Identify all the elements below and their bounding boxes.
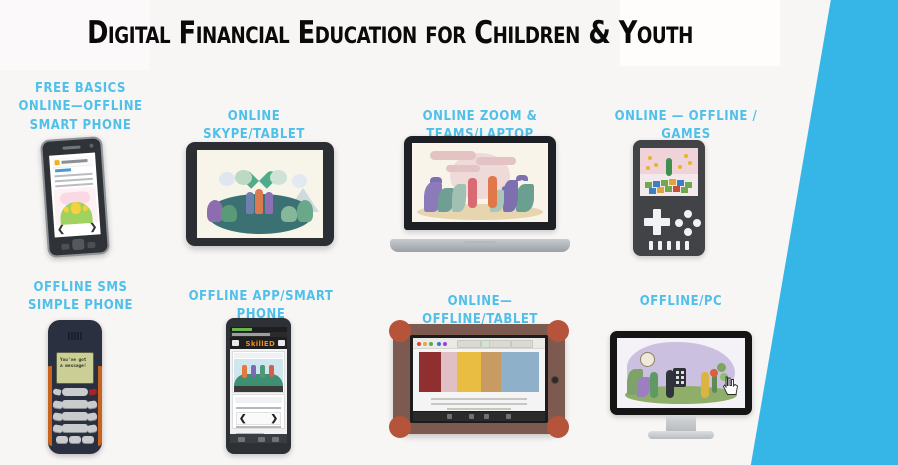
bush-shape [297,200,313,222]
keypad-key[interactable] [62,412,88,420]
lesson-text-card: ❮ ❯ [232,394,285,429]
video-card[interactable] [232,351,285,393]
tablet-body [186,142,334,246]
phone-body: SkillED [226,318,291,454]
call-key[interactable] [52,388,61,396]
card-header [235,397,282,403]
navigation-key[interactable] [62,388,88,396]
device-handheld-game-console [633,140,705,256]
home-key-icon [258,437,265,442]
cloud-shape [476,157,516,165]
action-button-right[interactable] [693,219,701,227]
label-online-skype-tablet: ONLINE SKYPE/TABLET [175,108,333,145]
keypad-key[interactable] [86,424,97,433]
coin-icon [688,161,692,165]
options-menu-icon[interactable] [278,340,285,346]
sms-message-text: You've got a message! [60,358,91,370]
menu-key-icon [506,414,511,419]
coin-icon [678,165,682,169]
hero-block [441,352,458,392]
board-tile [669,179,676,185]
board-tile [681,187,688,193]
android-soft-keys[interactable] [230,434,287,443]
laptop-notch [464,241,496,245]
device-smartphone-free-basics: ❮ ❯ [40,136,110,258]
action-button-up[interactable] [684,210,692,218]
console-screen [640,148,698,196]
keypad-key[interactable] [86,412,97,421]
lesson-nav[interactable]: ❮ ❯ [236,412,281,425]
article-illustration [53,187,97,226]
video-title [234,353,283,358]
corner-bumper [547,416,569,438]
recents-key-icon [484,414,489,419]
corner-bumper [389,320,411,342]
text-line [54,173,92,178]
phone-screen: SkillED [230,327,287,443]
browser-tab[interactable] [511,340,533,348]
feature-phone-body: You've got a message! [48,320,102,454]
hamburger-menu-icon[interactable] [232,340,239,346]
side-trim-right [98,366,102,446]
phone-menu-button [61,244,69,251]
phone-screen: ❮ ❯ [49,153,101,238]
chat-bubble [219,172,235,186]
corner-bumper [389,416,411,438]
prev-arrow-icon[interactable]: ❮ [239,413,247,424]
keypad-key[interactable] [86,400,97,409]
device-desktop-monitor [610,331,752,439]
plant-leaf [452,184,466,212]
cloud-shape [446,165,480,172]
keypad-key[interactable] [62,400,88,408]
phone-body: ❮ ❯ [40,136,110,258]
status-indicator [232,328,252,331]
plant-leaf [503,180,518,212]
browser-page [413,338,545,411]
tablet-screen [410,335,548,423]
earpiece-grill [68,332,82,340]
board-tile [673,186,680,192]
toolbar-dot [443,342,447,346]
person-figure [242,365,247,378]
chat-bubble [270,170,287,185]
home-key-icon [469,414,474,419]
clock-icon [640,352,655,367]
people-group [244,186,276,214]
monitor-bezel [610,331,752,415]
coin-icon [654,163,658,167]
person-figure [255,189,263,214]
phone-back-button [87,242,95,249]
device-feature-phone: You've got a message! [48,320,102,454]
browser-tab[interactable] [457,340,481,348]
hero-banner [419,352,539,392]
board-tile [649,188,656,194]
next-arrow-icon[interactable]: ❯ [270,413,278,424]
rubber-bumper-case [393,324,565,434]
board-game [643,172,695,194]
poster-canvas: Digital Financial Education for Children… [0,0,898,465]
monitor-stand [666,415,696,432]
article-header [52,156,93,169]
hero-photo [501,352,539,392]
action-button-left[interactable] [675,219,683,227]
device-tablet-skype [186,142,334,246]
person-figure [246,192,254,214]
speaker-slot [676,241,680,250]
device-laptop [390,136,570,252]
corner-bumper [547,320,569,342]
coin-icon [684,154,688,158]
coin-icon [648,156,652,160]
video-controls[interactable] [234,386,283,392]
app-header: SkillED [230,337,287,349]
page-title: Digital Financial Education for Children… [31,16,749,50]
tablet-camera-icon [551,376,559,384]
speaker-slot [685,241,689,250]
keypad-key[interactable] [56,436,68,443]
speaker-slot [658,241,662,250]
person-figure [265,192,273,214]
android-navigation-bar[interactable] [413,412,545,421]
text-line [55,178,93,183]
tablet-screen [197,150,323,238]
plant-leaf [516,184,534,212]
back-key-icon [447,414,452,419]
chat-bubble [235,170,252,185]
phone-speaker [62,145,80,149]
speaker-slot [649,241,653,250]
bush-shape [221,205,237,222]
monitor-screen [617,338,745,408]
laptop-lid [404,136,556,230]
person-figure [650,372,658,398]
device-rugged-tablet [393,324,565,434]
cursor-hand-icon [723,376,737,394]
keypad-key[interactable] [82,436,94,443]
end-call-key[interactable] [88,388,97,396]
person-figure [251,365,256,377]
browser-tab[interactable] [489,340,511,348]
label-offline-sms-simple-phone: OFFLINE SMS SIMPLE PHONE [15,279,146,316]
laptop-screen [412,143,548,222]
back-key-icon [238,437,245,442]
speaker-slot [667,241,671,250]
keypad-key[interactable] [62,424,88,432]
monitor-foot [648,431,714,439]
article-link [55,168,71,172]
lightbulb-icon [70,202,81,215]
cloud-shape [430,151,476,160]
accent-wedge [738,0,898,465]
dpad-vertical[interactable] [653,209,661,235]
laptop-base [390,239,570,252]
person-figure [260,365,265,378]
hero-block [481,352,500,392]
action-button-down[interactable] [684,228,692,236]
person-figure [488,176,497,208]
next-arrow-icon[interactable]: ❯ [89,223,97,233]
video-thumbnail [234,359,283,386]
prev-arrow-icon[interactable]: ❮ [57,225,65,235]
app-logo: SkillED [246,340,276,348]
person-figure [468,178,477,208]
phone-home-button [72,238,85,250]
device-smartphone-offline-app: SkillED [226,318,291,454]
keypad-key[interactable] [69,436,81,443]
person-figure [701,372,709,398]
hero-block [419,352,441,392]
browser-toolbar[interactable] [413,338,545,349]
keypad-key[interactable] [52,400,63,409]
label-free-basics-smartphone: FREE BASICS ONLINE—OFFLINE SMART PHONE [15,80,146,135]
person-figure [269,365,274,377]
keypad-key[interactable] [52,412,63,421]
recents-key-icon [272,437,279,442]
traffic-light-green[interactable] [429,342,433,346]
traffic-light-yellow[interactable] [423,342,427,346]
article-nav[interactable]: ❮ ❯ [56,222,99,234]
toolbar-dot [437,342,441,346]
info-board [673,368,686,387]
hero-block [457,352,481,392]
feature-phone-lcd: You've got a message! [56,352,94,384]
board-tile [665,186,672,192]
chat-bubble [292,174,307,188]
bush-shape [281,206,297,222]
coin-icon [646,166,650,170]
label-offline-pc: OFFLINE/PC [619,293,743,311]
traffic-light-red[interactable] [417,342,421,346]
side-trim-left [48,366,52,446]
board-tile [657,187,664,193]
phone-camera-icon [89,144,93,148]
keypad-key[interactable] [52,424,63,433]
